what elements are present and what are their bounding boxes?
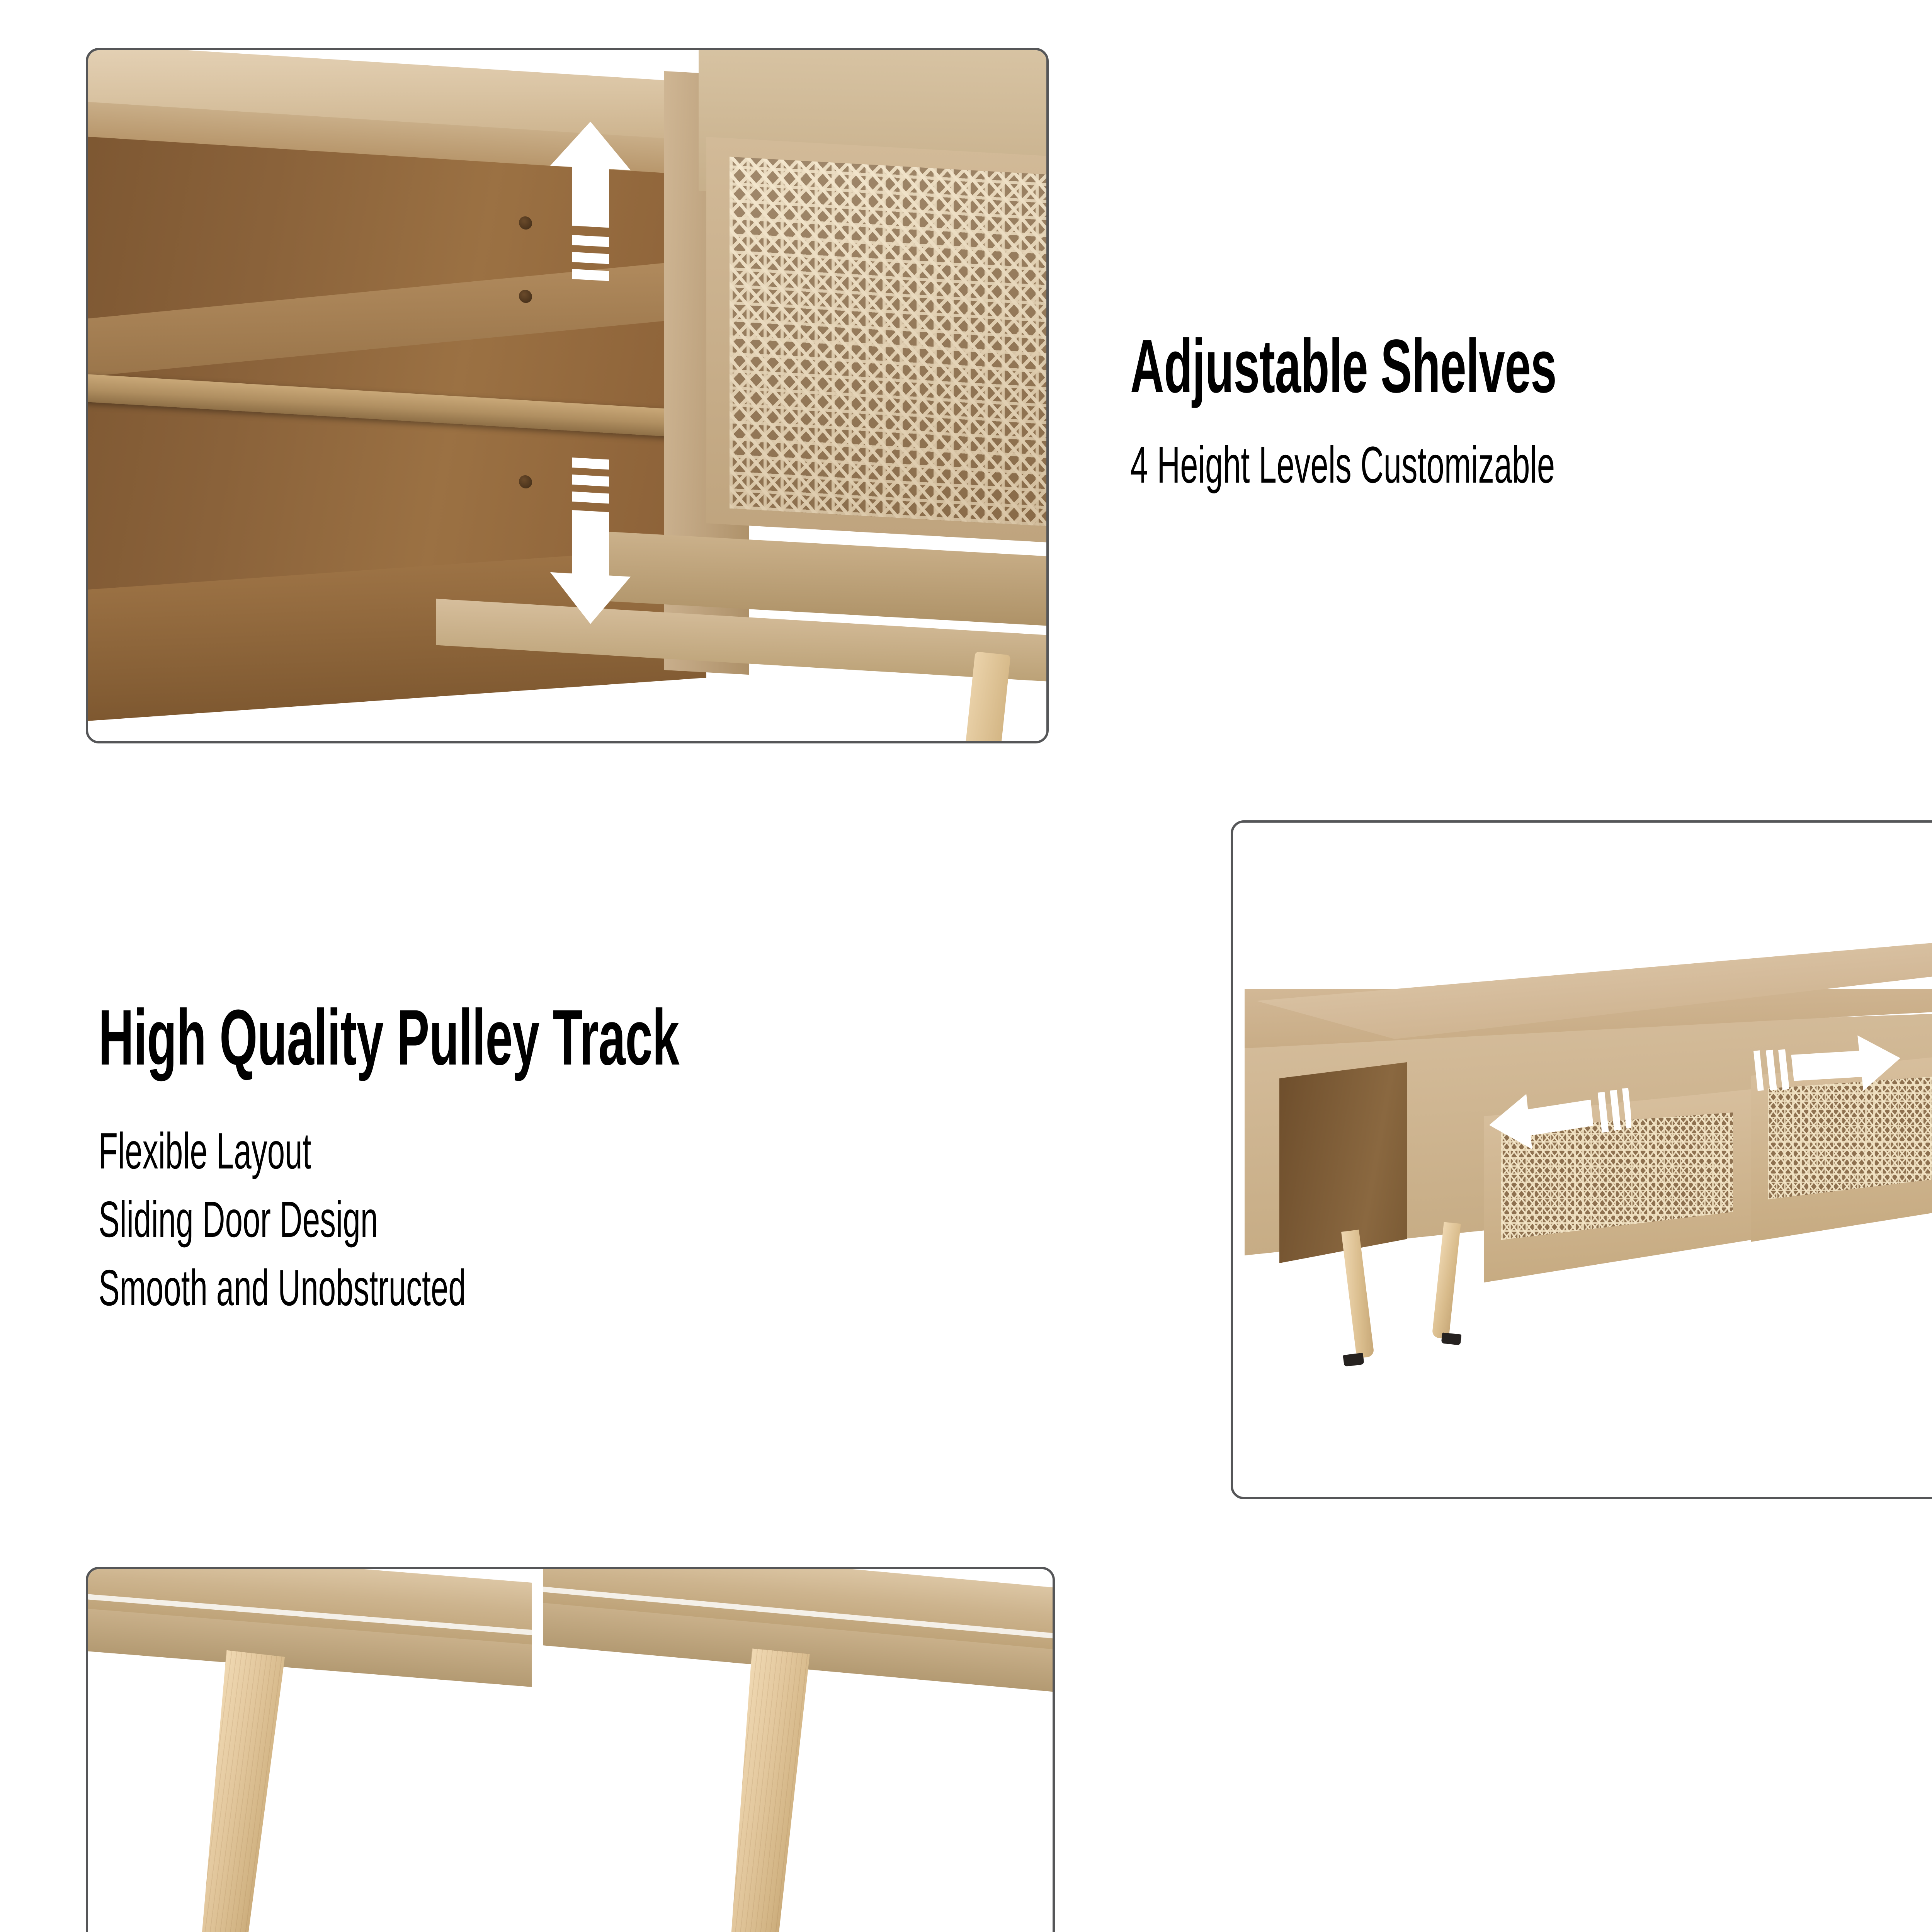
adjustable-shelves-photo-panel [86,48,1049,743]
slide-left-arrow-icon [1484,1082,1631,1157]
leg-back-left [1432,1222,1461,1339]
shelf-closeup-scene [88,50,1046,741]
slide-right-arrow-icon [1751,1029,1905,1105]
leg-foot-back-left [1441,1332,1462,1345]
up-arrow-shelf-icon [544,116,637,301]
adjustable-shelves-subtext: 4 Height Levels Customizable [1130,430,1555,501]
leg-closeup-foot-retracted [543,1569,1053,1932]
cabinet-leg-left [182,1650,285,1932]
panel-split-divider [532,1569,543,1932]
leg-stability-photo-panel [86,1567,1055,1932]
pulley-track-subtext-line2: Sliding Door Design [99,1184,378,1255]
rattan-cane-weave [730,157,1049,527]
leg-closeup-foot-extended [88,1569,532,1932]
adjustable-shelves-heading: Adjustable Shelves [1130,327,1556,406]
down-arrow-shelf-icon [544,448,637,634]
leg-front-left [1341,1230,1374,1358]
tv-stand-overview-panel [1231,820,1932,1499]
pulley-track-subtext-line1: Flexible Layout [99,1116,311,1186]
tv-stand-scene [1233,823,1932,1497]
leg-foot-front-left [1343,1353,1364,1367]
pulley-track-subtext-line3: Smooth and Unobstructed [99,1253,466,1323]
cabinet-leg-right [713,1648,810,1932]
pulley-track-heading: High Quality Pulley Track [99,996,679,1079]
stability-subtext-line1: Strong Stability [1131,1930,1344,1932]
